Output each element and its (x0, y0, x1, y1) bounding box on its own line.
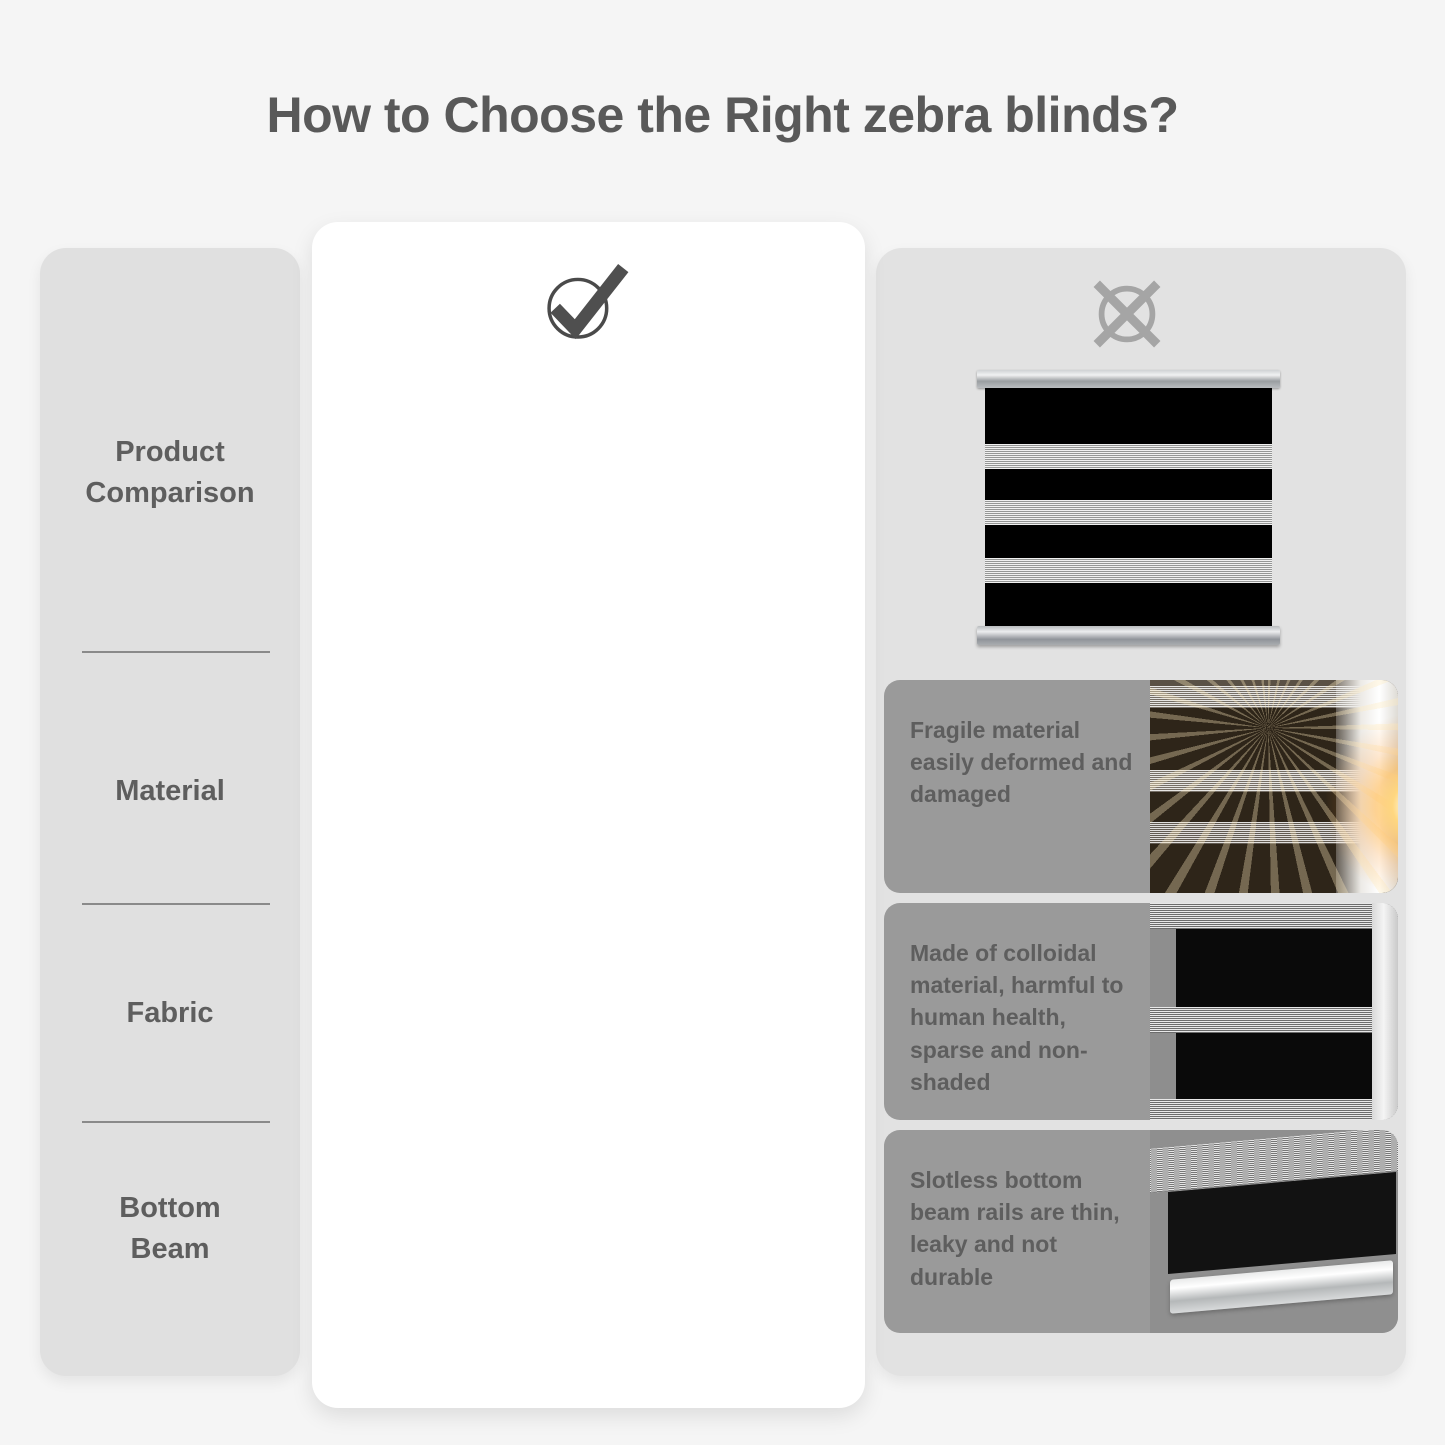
row-divider (82, 651, 270, 653)
row-label-panel: Product Comparison Material Fabric Botto… (40, 248, 300, 1376)
row-label-line: Bottom (40, 1188, 300, 1229)
sheer-stripe (985, 500, 1272, 525)
blind-headrail (977, 370, 1280, 388)
row-label-fabric: Fabric (40, 993, 300, 1034)
row-label-product-comparison: Product Comparison (40, 432, 300, 514)
row-label-line: Comparison (40, 473, 300, 514)
cross-circle-icon (1083, 273, 1171, 355)
black-blind-sheer-stripes-image (1150, 903, 1398, 1120)
check-circle-icon (536, 258, 632, 348)
row-divider (82, 1121, 270, 1123)
light-leak-sun-flare-window-image (1150, 680, 1398, 893)
row-label-bottom-beam: Bottom Beam (40, 1188, 300, 1270)
bad-feature-text: Made of colloidal material, harmful to h… (884, 903, 1150, 1120)
row-label-material: Material (40, 771, 300, 812)
blind-fabric-body (985, 388, 1272, 626)
row-divider (82, 903, 270, 905)
bad-feature-text: Fragile material easily deformed and dam… (884, 680, 1150, 893)
row-label-line: Product (40, 432, 300, 473)
blind-bottom-rail (977, 626, 1280, 645)
hero-black-zebra-blind (977, 370, 1280, 648)
page-title: How to Choose the Right zebra blinds? (0, 86, 1445, 144)
sheer-stripe (985, 558, 1272, 583)
slotless-bottom-rail-image (1150, 1130, 1398, 1333)
sheer-stripe (985, 444, 1272, 469)
row-label-line: Beam (40, 1229, 300, 1270)
good-product-panel (312, 222, 865, 1408)
bad-feature-card: Slotless bottom beam rails are thin, lea… (884, 1130, 1398, 1333)
bad-feature-card: Made of colloidal material, harmful to h… (884, 903, 1398, 1120)
bad-feature-text: Slotless bottom beam rails are thin, lea… (884, 1130, 1150, 1333)
bad-feature-card: Fragile material easily deformed and dam… (884, 680, 1398, 893)
